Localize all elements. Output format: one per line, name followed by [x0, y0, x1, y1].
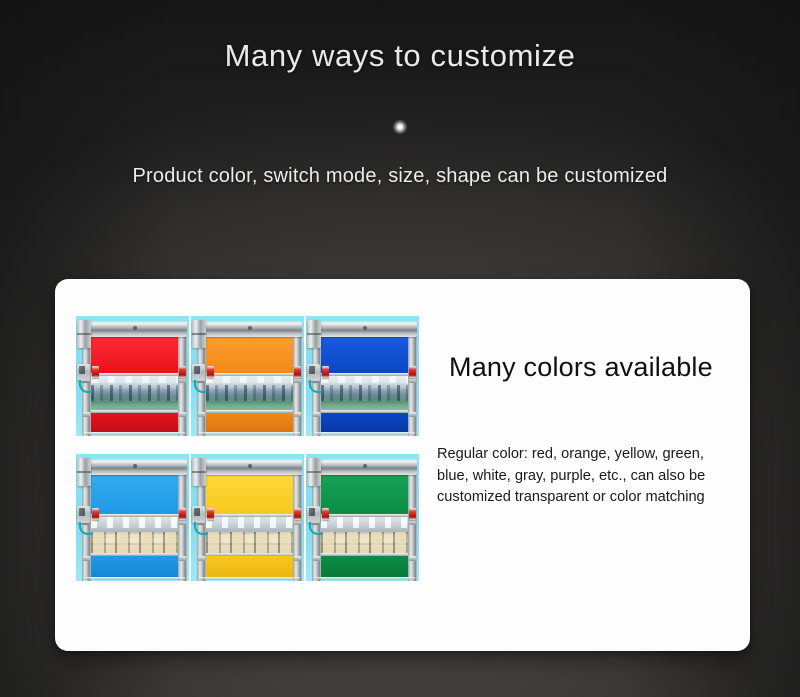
floor-line	[84, 577, 185, 580]
emergency-button-right[interactable]	[179, 508, 186, 520]
door-tile-light-blue[interactable]	[76, 454, 189, 581]
door-motor-box	[77, 458, 91, 486]
control-panel[interactable]	[307, 364, 320, 381]
emergency-button-left[interactable]	[92, 366, 99, 378]
control-cable	[79, 522, 92, 535]
door-rail-right	[178, 472, 187, 581]
emergency-button-left[interactable]	[322, 508, 329, 520]
emergency-button-right[interactable]	[409, 366, 416, 378]
emergency-button-left[interactable]	[92, 508, 99, 520]
feature-card: Many colors available Regular color: red…	[55, 279, 750, 651]
promo-banner: Many ways to customize Product color, sw…	[0, 0, 800, 697]
glow-dot-decoration	[393, 120, 407, 134]
vision-window-scene	[206, 373, 293, 413]
control-cable	[309, 380, 322, 393]
control-panel[interactable]	[77, 506, 90, 523]
screw-icon	[248, 464, 252, 468]
door-lintel	[82, 321, 187, 337]
door-tile-yellow[interactable]	[191, 454, 304, 581]
floor-line	[84, 432, 185, 435]
door-rail-right	[293, 334, 302, 436]
door-lintel	[312, 459, 417, 475]
door-lintel	[82, 459, 187, 475]
control-cable	[194, 380, 207, 393]
door-tile-green[interactable]	[306, 454, 419, 581]
door-rail-right	[293, 472, 302, 581]
screw-icon	[363, 326, 367, 330]
screw-icon	[248, 326, 252, 330]
vision-window-scene	[91, 373, 178, 413]
control-panel[interactable]	[192, 506, 205, 523]
floor-line	[199, 432, 300, 435]
control-cable	[194, 522, 207, 535]
emergency-button-left[interactable]	[322, 366, 329, 378]
door-gallery	[76, 316, 420, 581]
control-cable	[79, 380, 92, 393]
emergency-button-right[interactable]	[294, 366, 301, 378]
door-rail-right	[408, 472, 417, 581]
door-row-top	[76, 316, 420, 436]
floor-line	[314, 577, 415, 580]
door-curtain	[321, 474, 408, 577]
door-motor-box	[77, 320, 91, 348]
door-curtain	[321, 336, 408, 432]
emergency-button-right[interactable]	[294, 508, 301, 520]
emergency-button-left[interactable]	[207, 508, 214, 520]
door-row-bottom	[76, 454, 420, 581]
control-panel[interactable]	[77, 364, 90, 381]
screw-icon	[133, 464, 137, 468]
page-title: Many ways to customize	[0, 38, 800, 74]
door-curtain	[91, 336, 178, 432]
card-heading: Many colors available	[449, 352, 713, 383]
vision-window-scene	[321, 514, 408, 556]
control-cable	[309, 522, 322, 535]
door-motor-box	[307, 458, 321, 486]
vision-window-scene	[206, 514, 293, 556]
door-lintel	[312, 321, 417, 337]
control-panel[interactable]	[192, 364, 205, 381]
page-subtitle: Product color, switch mode, size, shape …	[0, 165, 800, 188]
card-body-text: Regular color: red, orange, yellow, gree…	[437, 444, 729, 509]
door-rail-right	[408, 334, 417, 436]
emergency-button-right[interactable]	[179, 366, 186, 378]
door-motor-box	[192, 458, 206, 486]
door-motor-box	[307, 320, 321, 348]
screw-icon	[363, 464, 367, 468]
screw-icon	[133, 326, 137, 330]
vision-window-scene	[321, 373, 408, 413]
emergency-button-left[interactable]	[207, 366, 214, 378]
emergency-button-right[interactable]	[409, 508, 416, 520]
door-lintel	[197, 321, 302, 337]
door-curtain	[206, 474, 293, 577]
door-motor-box	[192, 320, 206, 348]
vision-window-scene	[91, 514, 178, 556]
control-panel[interactable]	[307, 506, 320, 523]
door-tile-red[interactable]	[76, 316, 189, 436]
door-rail-right	[178, 334, 187, 436]
floor-line	[314, 432, 415, 435]
door-lintel	[197, 459, 302, 475]
floor-line	[199, 577, 300, 580]
door-curtain	[206, 336, 293, 432]
door-curtain	[91, 474, 178, 577]
door-tile-blue[interactable]	[306, 316, 419, 436]
door-tile-orange[interactable]	[191, 316, 304, 436]
